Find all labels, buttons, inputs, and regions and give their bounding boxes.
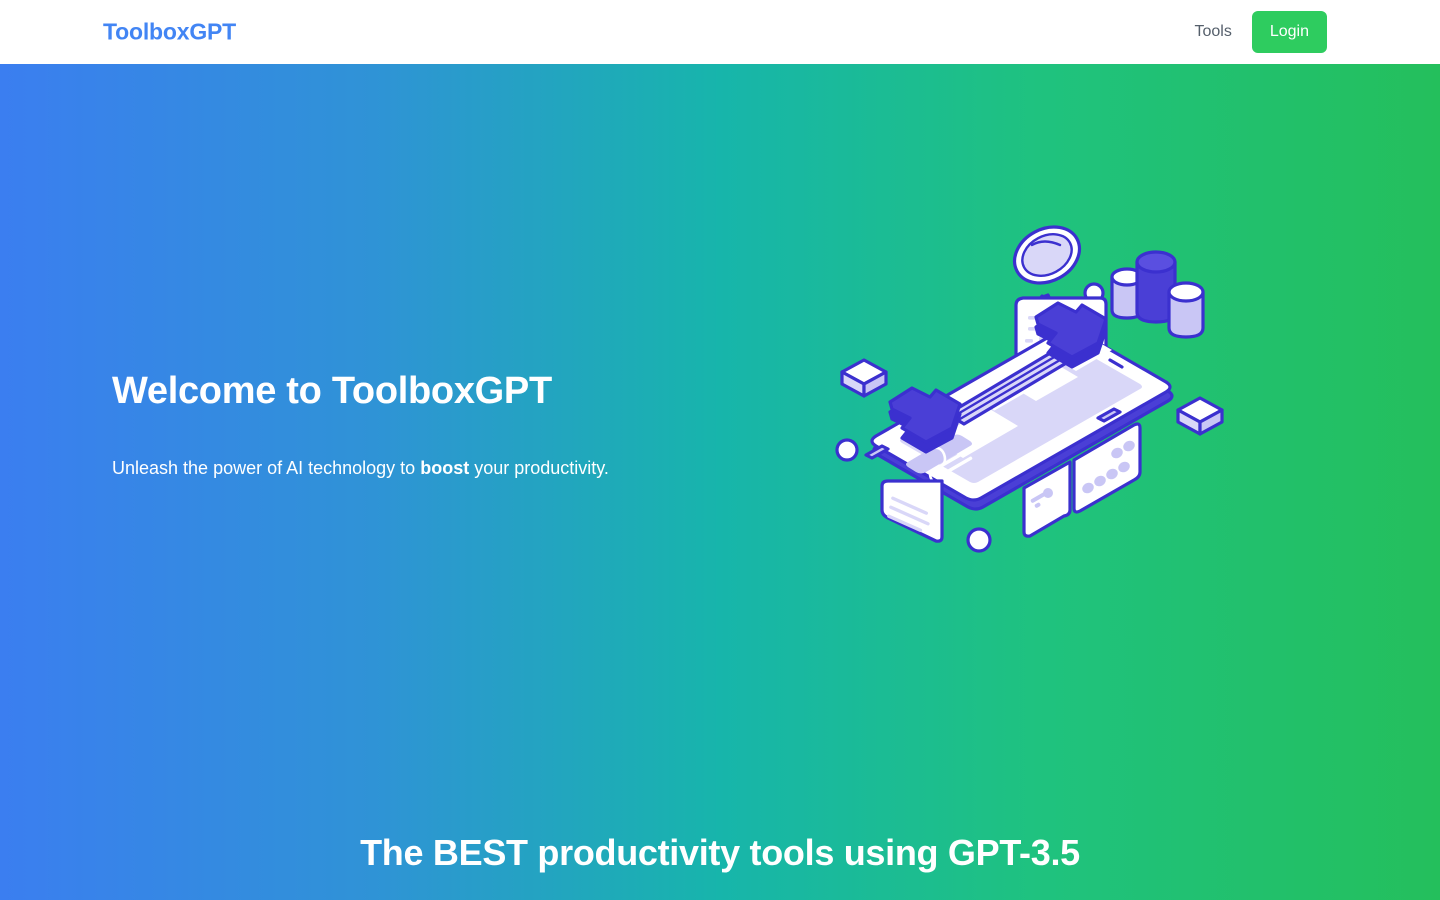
hero-subtitle-emphasis: boost	[420, 458, 469, 478]
hero-subtitle: Unleash the power of AI technology to bo…	[112, 455, 752, 481]
sphere-bottom	[968, 529, 990, 551]
page-root: ToolboxGPT Tools Login Welcome to Toolbo…	[0, 0, 1440, 900]
cylinder-group	[1112, 252, 1203, 337]
top-navbar: ToolboxGPT Tools Login	[0, 0, 1440, 64]
hero-copy: Welcome to ToolboxGPT Unleash the power …	[112, 369, 752, 481]
cube-right	[1178, 398, 1222, 434]
navbar-actions: Tools Login	[1192, 11, 1327, 53]
sphere-left	[837, 440, 857, 460]
hero-subtitle-post: your productivity.	[469, 458, 609, 478]
login-button[interactable]: Login	[1252, 11, 1327, 53]
card-bottom-left	[882, 481, 942, 541]
brand-logo[interactable]: ToolboxGPT	[103, 19, 236, 46]
isometric-toolbox-phone-illustration: .ink { stroke:#3b30cf; stroke-width:3.2;…	[820, 200, 1250, 580]
hero-tagline: The BEST productivity tools using GPT-3.…	[0, 832, 1440, 874]
hero-title: Welcome to ToolboxGPT	[112, 369, 752, 415]
hero-section: Welcome to ToolboxGPT Unleash the power …	[0, 64, 1440, 900]
hero-illustration: .ink { stroke:#3b30cf; stroke-width:3.2;…	[820, 200, 1250, 580]
hero-subtitle-pre: Unleash the power of AI technology to	[112, 458, 420, 478]
cube-left	[842, 360, 886, 396]
nav-link-tools[interactable]: Tools	[1192, 19, 1233, 45]
